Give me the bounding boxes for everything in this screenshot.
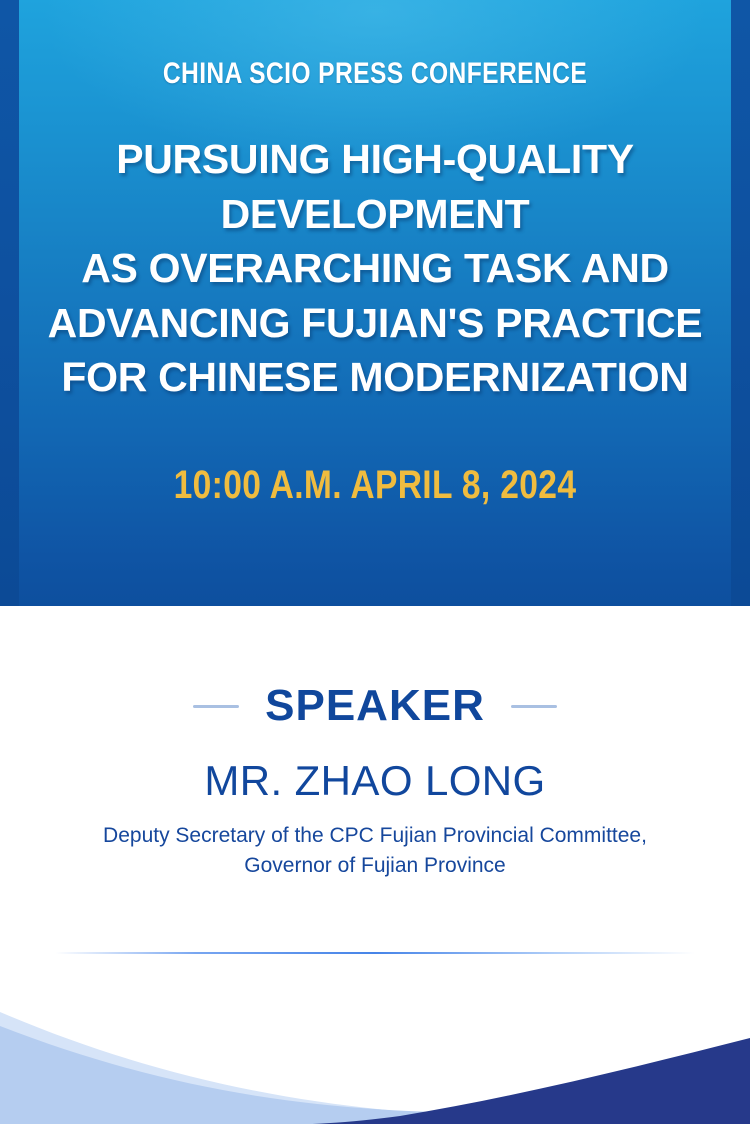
right-dash-icon <box>511 705 557 708</box>
speaker-name: MR. ZHAO LONG <box>0 728 750 804</box>
headline-line-2: DEVELOPMENT <box>14 187 736 242</box>
speaker-title-line-1: Deputy Secretary of the CPC Fujian Provi… <box>0 821 750 851</box>
left-dash-icon <box>193 705 239 708</box>
speaker-section-header: SPEAKER <box>0 606 750 728</box>
headline-line-1: PURSUING HIGH-QUALITY <box>14 132 736 187</box>
headline-line-5: FOR CHINESE MODERNIZATION <box>14 350 736 405</box>
event-datetime: 10:00 A.M. APRIL 8, 2024 <box>60 405 690 508</box>
event-headline: PURSUING HIGH-QUALITY DEVELOPMENT AS OVE… <box>0 90 750 405</box>
speaker-title-line-2: Governor of Fujian Province <box>0 851 750 881</box>
headline-line-3: AS OVERARCHING TASK AND <box>14 241 736 296</box>
hero-banner: CHINA SCIO PRESS CONFERENCE PURSUING HIG… <box>0 0 750 606</box>
headline-line-4: ADVANCING FUJIAN'S PRACTICE <box>14 296 736 351</box>
event-kicker: CHINA SCIO PRESS CONFERENCE <box>68 0 683 90</box>
speaker-section-label: SPEAKER <box>265 684 485 728</box>
press-conference-poster: CHINA SCIO PRESS CONFERENCE PURSUING HIG… <box>0 0 750 1124</box>
organization-name: THE STATE COUNCIL INFORMATION OFFICE OF … <box>49 881 702 1124</box>
poster-body: SPEAKER MR. ZHAO LONG Deputy Secretary o… <box>0 606 750 1124</box>
hero-content: CHINA SCIO PRESS CONFERENCE PURSUING HIG… <box>0 0 750 508</box>
speaker-title: Deputy Secretary of the CPC Fujian Provi… <box>0 804 750 881</box>
